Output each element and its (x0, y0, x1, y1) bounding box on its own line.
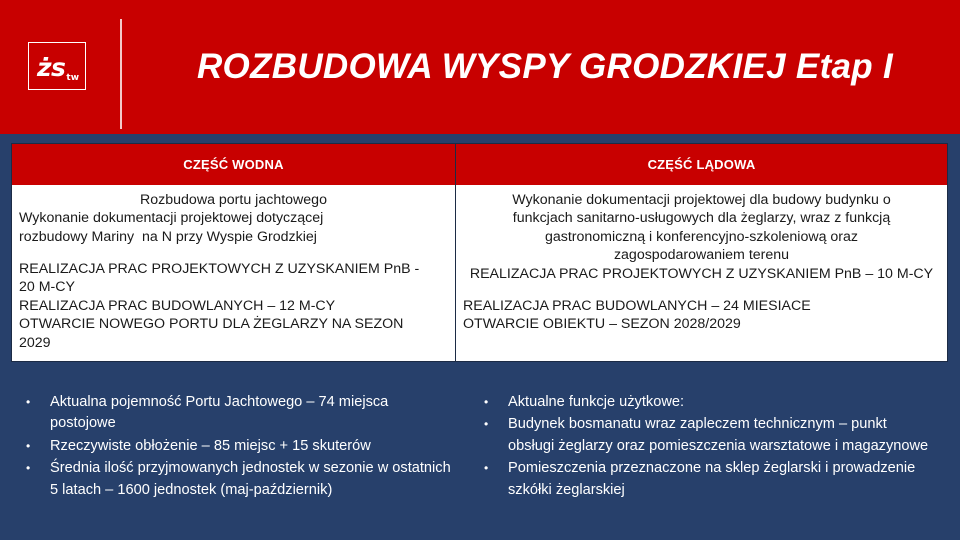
header-vertical-divider (120, 19, 122, 129)
table-body-row: Rozbudowa portu jachtowegoWykonanie doku… (12, 185, 947, 361)
table-header-land: CZĘŚĆ LĄDOWA (456, 144, 947, 185)
header-band: żstw ROZBUDOWA WYSPY GRODZKIEJ Etap I (0, 0, 960, 134)
list-item: •Budynek bosmanatu wraz zapleczem techni… (484, 414, 936, 457)
list-item-text: Budynek bosmanatu wraz zapleczem technic… (508, 414, 936, 457)
cell-text-line: funkcjach sanitarno-usługowych dla żegla… (463, 209, 940, 227)
cell-text-line: OTWARCIE OBIEKTU – SEZON 2028/2029 (463, 315, 940, 333)
cell-text-line (463, 283, 940, 296)
bullet-marker-icon: • (26, 392, 50, 412)
list-item: •Rzeczywiste obłożenie – 85 miejsc + 15 … (26, 436, 456, 457)
cell-text-line: Rozbudowa portu jachtowego (19, 191, 448, 209)
page-title: ROZBUDOWA WYSPY GRODZKIEJ Etap I (150, 0, 940, 134)
organization-logo: żstw (28, 42, 86, 90)
bullet-marker-icon: • (26, 436, 50, 456)
logo-initials: żs (37, 55, 65, 80)
logo-mark: żstw (29, 43, 87, 91)
table-header-water: CZĘŚĆ WODNA (12, 144, 456, 185)
cell-text-line: 20 M-CY (19, 278, 448, 296)
table-header-row: CZĘŚĆ WODNA CZĘŚĆ LĄDOWA (12, 144, 947, 185)
slide-root: żstw ROZBUDOWA WYSPY GRODZKIEJ Etap I CZ… (0, 0, 960, 540)
cell-text-line: REALIZACJA PRAC BUDOWLANYCH – 12 M-CY (19, 297, 448, 315)
cell-text-line: REALIZACJA PRAC PROJEKTOWYCH Z UZYSKANIE… (463, 265, 940, 283)
bullet-marker-icon: • (484, 414, 508, 434)
cell-text-line: REALIZACJA PRAC BUDOWLANYCH – 24 MIESIAC… (463, 297, 940, 315)
list-item: •Aktualna pojemność Portu Jachtowego – 7… (26, 392, 456, 435)
logo-subscript: tw (65, 74, 79, 91)
bullet-list-water: •Aktualna pojemność Portu Jachtowego – 7… (26, 392, 456, 502)
list-item: •Średnia ilość przyjmowanych jednostek w… (26, 458, 456, 501)
cell-text-line: zagospodarowaniem terenu (463, 246, 940, 264)
cell-text-line (19, 246, 448, 259)
table-cell-water: Rozbudowa portu jachtowegoWykonanie doku… (12, 185, 456, 361)
list-item: •Aktualne funkcje użytkowe: (484, 392, 936, 413)
list-item-text: Pomieszczenia przeznaczone na sklep żegl… (508, 458, 936, 501)
cell-text-line: REALIZACJA PRAC PROJEKTOWYCH Z UZYSKANIE… (19, 260, 448, 278)
bullet-list-land: •Aktualne funkcje użytkowe:•Budynek bosm… (484, 392, 936, 502)
bullet-marker-icon: • (26, 458, 50, 478)
cell-text-line: OTWARCIE NOWEGO PORTU DLA ŻEGLARZY NA SE… (19, 315, 448, 333)
table-cell-land: Wykonanie dokumentacji projektowej dla b… (456, 185, 947, 361)
list-item-text: Rzeczywiste obłożenie – 85 miejsc + 15 s… (50, 436, 456, 457)
cell-text-line: Wykonanie dokumentacji projektowej dotyc… (19, 209, 448, 227)
list-item: •Pomieszczenia przeznaczone na sklep żeg… (484, 458, 936, 501)
bullet-marker-icon: • (484, 458, 508, 478)
list-item-text: Aktualna pojemność Portu Jachtowego – 74… (50, 392, 456, 435)
bullet-marker-icon: • (484, 392, 508, 412)
cell-text-line: 2029 (19, 334, 448, 352)
list-item-text: Średnia ilość przyjmowanych jednostek w … (50, 458, 456, 501)
comparison-table: CZĘŚĆ WODNA CZĘŚĆ LĄDOWA Rozbudowa portu… (11, 143, 948, 362)
list-item-text: Aktualne funkcje użytkowe: (508, 392, 936, 413)
cell-text-line: gastronomiczną i konferencyjno-szkolenio… (463, 228, 940, 246)
cell-text-line: rozbudowy Mariny na N przy Wyspie Grodzk… (19, 228, 448, 246)
cell-text-line: Wykonanie dokumentacji projektowej dla b… (463, 191, 940, 209)
